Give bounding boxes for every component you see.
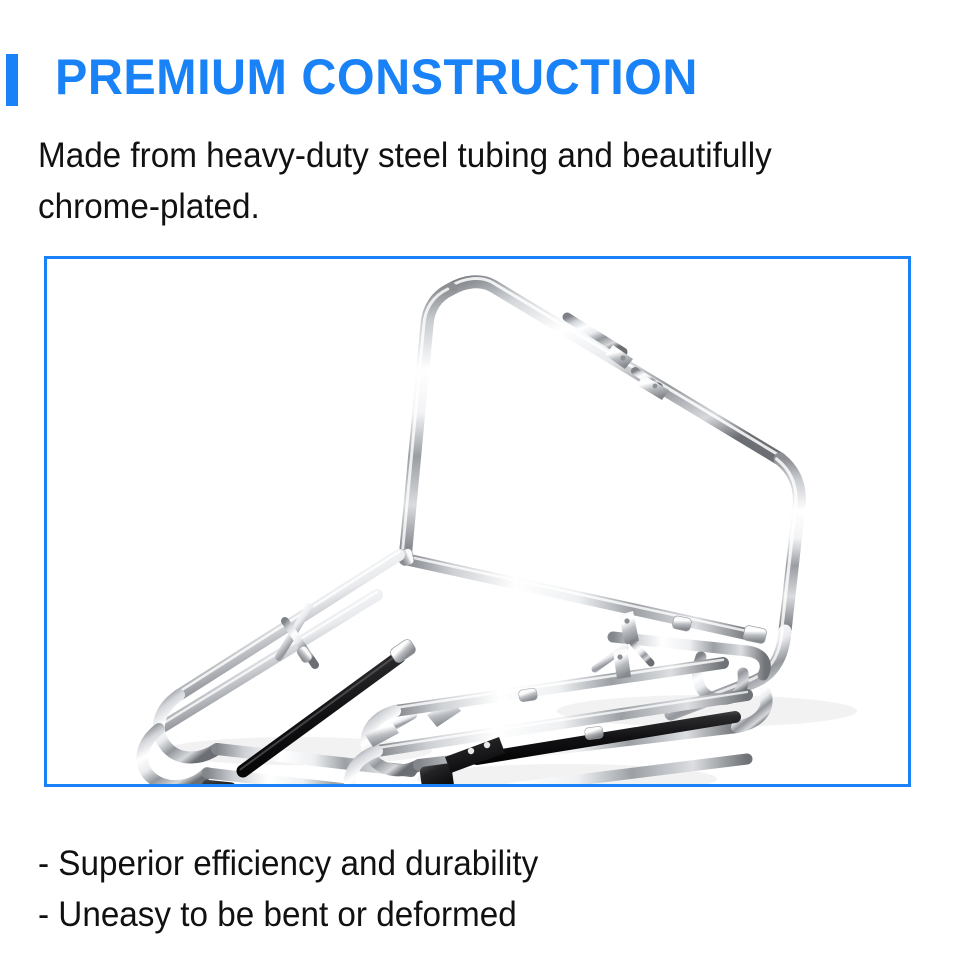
feature-bullet-list: - Superior efficiency and durability - U… [38, 838, 893, 940]
infographic-page: PREMIUM CONSTRUCTION Made from heavy-dut… [0, 0, 960, 960]
product-image-frame [44, 256, 911, 787]
subtitle-text: Made from heavy-duty steel tubing and be… [38, 130, 893, 232]
page-title: PREMIUM CONSTRUCTION [55, 46, 698, 108]
product-photo [47, 259, 908, 784]
chrome-saddlebag-guard-rails-illustration [47, 259, 908, 784]
list-item: - Superior efficiency and durability [38, 838, 893, 889]
header: PREMIUM CONSTRUCTION [0, 50, 960, 112]
accent-bar [6, 54, 18, 106]
list-item: - Uneasy to be bent or deformed [38, 889, 893, 940]
black-support-bar-right [477, 717, 735, 759]
